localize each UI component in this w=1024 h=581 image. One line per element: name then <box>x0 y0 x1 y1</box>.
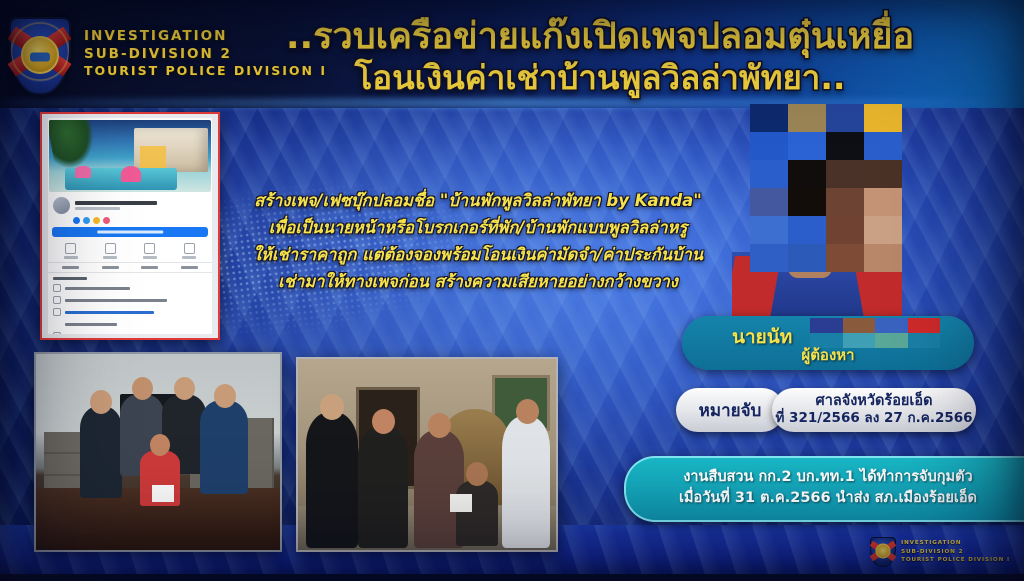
footer-line-2: SUB-DIVISION 2 <box>901 548 1010 556</box>
footer-line-3: TOURIST POLICE DIVISION I <box>901 556 1010 564</box>
infographic-poster: INVESTIGATION SUB-DIVISION 2 TOURIST POL… <box>0 0 1024 581</box>
description-line-4: เช่ามาให้ทางเพจก่อน สร้างความเสียหายอย่า… <box>208 271 748 293</box>
suspect-role: ผู้ต้องหา <box>682 343 974 367</box>
headline-line-1: ..รวบเครือข่ายแก๊งเปิดเพจปลอมตุ๋นเหยื่อ <box>220 18 980 56</box>
avatar <box>52 196 71 215</box>
arrest-photo-office <box>34 352 282 552</box>
fb-cover-photo <box>49 120 211 192</box>
headline-line-2: โอนเงินค่าเช่าบ้านพูลวิลล่าพัทยา.. <box>220 61 980 96</box>
arrest-note-line-1: งานสืบสวน กก.2 บก.ทท.1 ได้ทำการจับกุมตัว <box>656 467 1000 488</box>
footer-logo: INVESTIGATION SUB-DIVISION 2 TOURIST POL… <box>870 537 1010 567</box>
description-line-3: ให้เช่าราคาถูก แต่ต้องจองพร้อมโอนเงินค่า… <box>208 244 748 266</box>
description-text: สร้างเพจ/เฟซบุ๊กปลอมชื่อ "บ้านพักพูลวิลล… <box>208 190 748 298</box>
police-shield-icon <box>870 537 896 567</box>
fb-tab-row[interactable] <box>48 262 212 273</box>
suspect-portrait <box>732 104 902 336</box>
warrant-label: หมายจับ <box>699 397 762 424</box>
facebook-page-screenshot <box>40 112 220 340</box>
fb-about-section <box>48 273 212 335</box>
warrant-detail-pill: ศาลจังหวัดร้อยเอ็ด ที่ 321/2566 ลง 27 ก.… <box>772 388 976 432</box>
fb-action-row[interactable] <box>48 241 212 262</box>
fb-reaction-icons <box>48 217 212 227</box>
description-line-2: เพื่อเป็นนายหน้าหรือโบรกเกอร์ที่พัก/บ้าน… <box>208 217 748 239</box>
arrest-photo-house <box>296 357 558 552</box>
warrant-number: ที่ 321/2566 ลง 27 ก.ค.2566 <box>775 411 972 426</box>
arrest-note-line-2: เมื่อวันที่ 31 ต.ค.2566 นำส่ง สภ.เมืองร้… <box>656 488 1000 509</box>
fb-page-identity <box>48 192 212 217</box>
arrest-note-banner: งานสืบสวน กก.2 บก.ทท.1 ได้ทำการจับกุมตัว… <box>624 456 1024 522</box>
description-line-1: สร้างเพจ/เฟซบุ๊กปลอมชื่อ "บ้านพักพูลวิลล… <box>208 190 748 212</box>
warrant-court: ศาลจังหวัดร้อยเอ็ด <box>816 394 933 410</box>
headline: ..รวบเครือข่ายแก๊งเปิดเพจปลอมตุ๋นเหยื่อ … <box>220 18 980 96</box>
warrant-info: หมายจับ ศาลจังหวัดร้อยเอ็ด ที่ 321/2566 … <box>676 388 976 436</box>
warrant-label-pill: หมายจับ <box>676 388 784 432</box>
fb-send-message-button[interactable] <box>52 227 208 237</box>
footer-line-1: INVESTIGATION <box>901 539 1010 547</box>
face-mosaic-censor <box>750 104 902 272</box>
suspect-name-badge: นายนัท ผู้ต้องหา <box>682 316 974 370</box>
police-shield-icon <box>9 17 71 95</box>
